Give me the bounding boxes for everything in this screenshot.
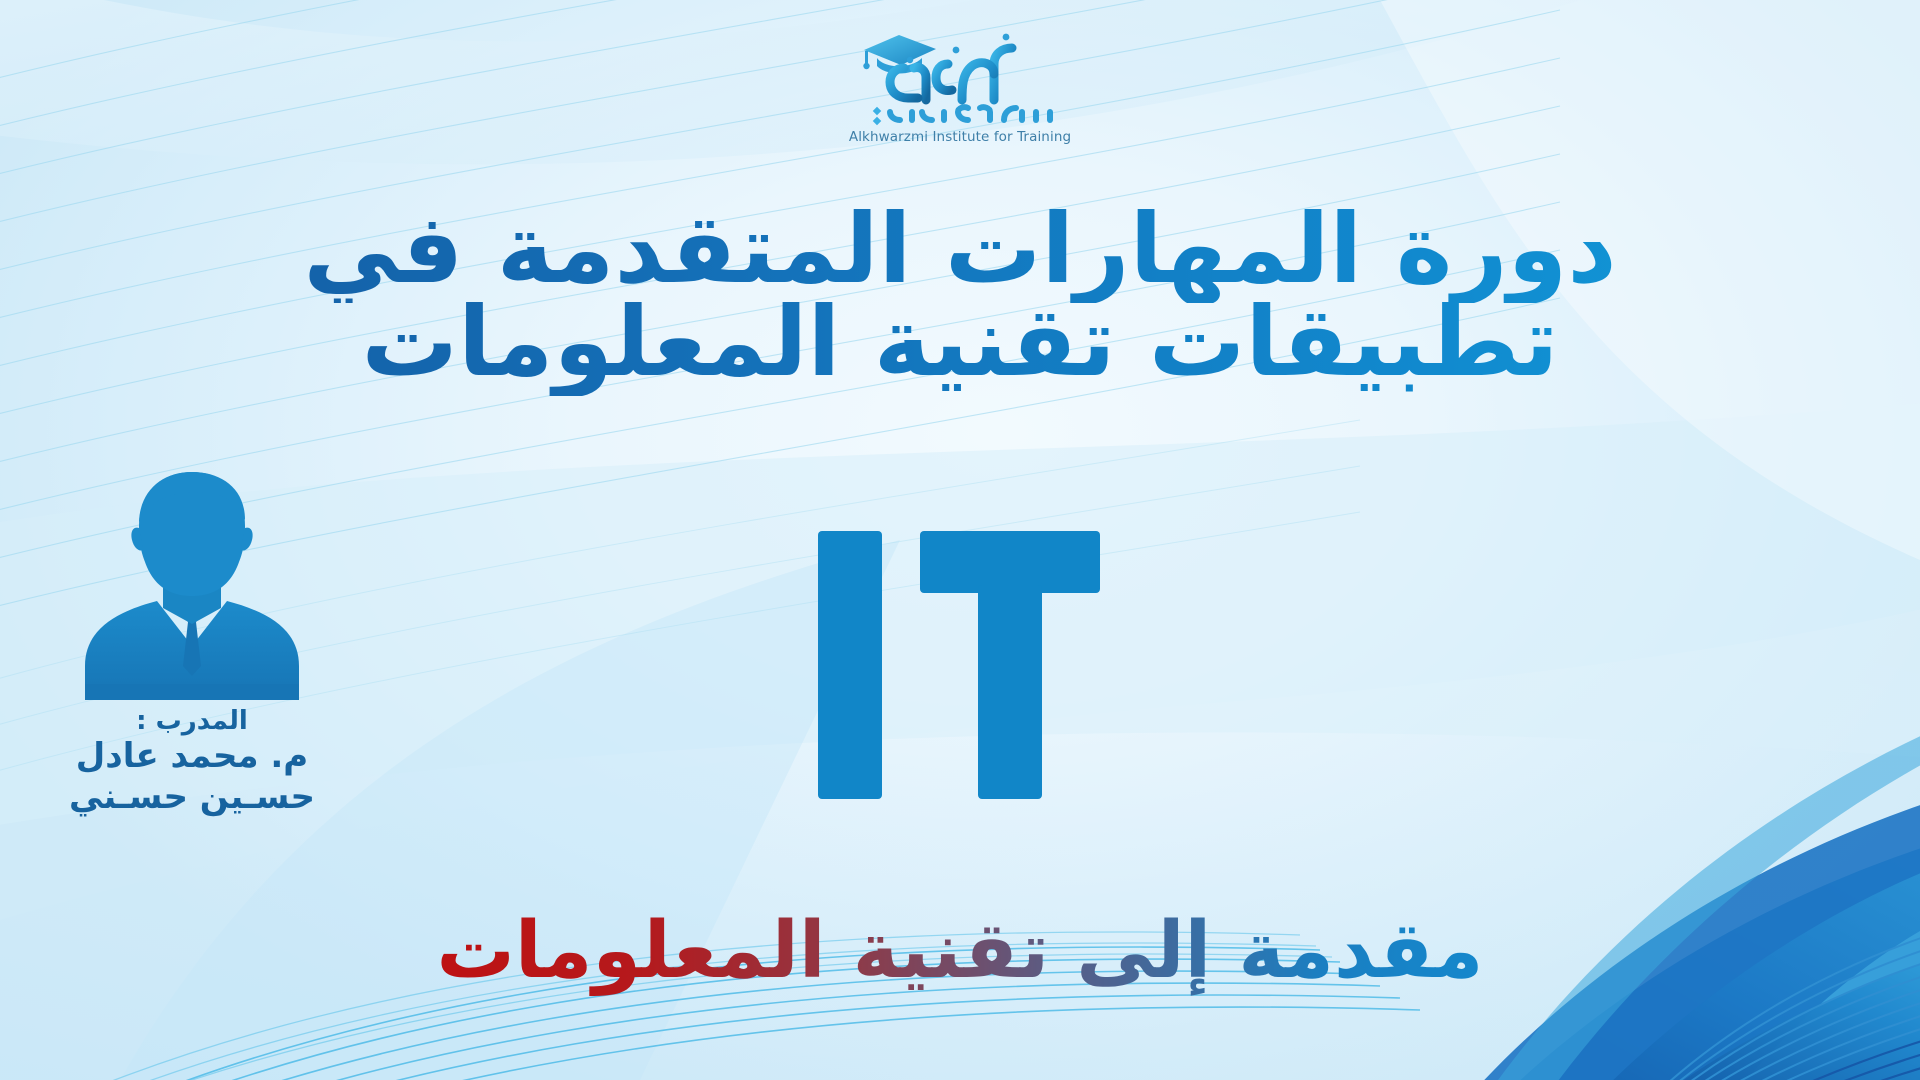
- trainer-name-line-1: م. محمد عادل: [42, 736, 342, 777]
- logo-subline-arabic: [890, 107, 1050, 120]
- course-title: دورة المهارات المتقدمة في تطبيقات تقنية …: [0, 196, 1920, 396]
- it-letters: [818, 531, 1100, 799]
- brand-logo: Alkhwarzmi Institute for Training: [830, 28, 1090, 148]
- course-subtitle-text: مقدمة إلى تقنية المعلومات: [425, 900, 1496, 1002]
- trainer-name-line-2: حسـين حسـني: [42, 777, 342, 818]
- wave-line-fan-dark: [1550, 1008, 1920, 1080]
- course-title-line-2: تطبيقات تقنية المعلومات: [0, 289, 1920, 396]
- brand-name-english: Alkhwarzmi Institute for Training: [830, 129, 1090, 145]
- trainer-block: المدرب : م. محمد عادل حسـين حسـني: [42, 470, 342, 819]
- letter-i: [818, 531, 882, 799]
- letter-t: [920, 531, 1100, 799]
- graduation-cap-logo-mark: [844, 28, 1076, 128]
- businessman-silhouette-avatar: [77, 470, 307, 700]
- avatar-base-bar: [85, 684, 299, 700]
- it-wordmark-svg: [810, 525, 1110, 805]
- poster-canvas: Alkhwarzmi Institute for Training دورة ا…: [0, 0, 1920, 1080]
- trainer-label: المدرب :: [42, 706, 342, 736]
- course-subtitle: مقدمة إلى تقنية المعلومات: [0, 900, 1920, 1002]
- logo-diamond-dots: [873, 107, 881, 125]
